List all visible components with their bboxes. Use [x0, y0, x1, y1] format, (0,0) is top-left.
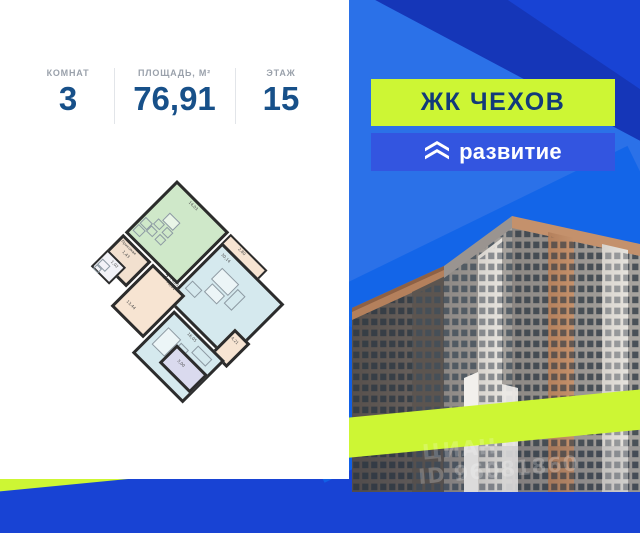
- stat-floor-label: ЭТАЖ: [266, 68, 295, 78]
- stat-floor-value: 15: [263, 82, 300, 115]
- developer-name-text: развитие: [459, 139, 562, 165]
- complex-name-banner[interactable]: ЖК ЧЕХОВ: [371, 79, 615, 126]
- apartment-stats: КОМНАТ 3 ПЛОЩАДЬ, м² 76,91 ЭТАЖ 15: [22, 66, 327, 128]
- stat-floor: ЭТАЖ 15: [235, 66, 327, 128]
- floorplan-card: КОМНАТ 3 ПЛОЩАДЬ, м² 76,91 ЭТАЖ 15 14,03: [0, 0, 349, 479]
- floorplan-rotated-group: 14,03 2,80 30,14 4,2: [58, 177, 296, 415]
- stat-rooms: КОМНАТ 3: [22, 66, 114, 128]
- brand-logo-block[interactable]: ЖК ЧЕХОВ развитие: [371, 79, 615, 171]
- developer-banner[interactable]: развитие: [371, 133, 615, 171]
- promo-card-stage: ЦИАН ID 96081860 ЖК ЧЕХОВ развитие КОМНА…: [0, 0, 640, 533]
- complex-name-text: ЖК ЧЕХОВ: [421, 88, 566, 117]
- stat-area: ПЛОЩАДЬ, м² 76,91: [115, 66, 235, 128]
- floorplan-drawing[interactable]: 14,03 2,80 30,14 4,2: [0, 150, 349, 450]
- stat-rooms-value: 3: [59, 82, 77, 115]
- double-chevron-up-icon: [424, 139, 450, 166]
- stat-rooms-label: КОМНАТ: [47, 68, 90, 78]
- bottom-blue-strip: [0, 492, 640, 533]
- stat-area-label: ПЛОЩАДЬ, м²: [138, 68, 211, 78]
- stat-area-value: 76,91: [133, 82, 216, 115]
